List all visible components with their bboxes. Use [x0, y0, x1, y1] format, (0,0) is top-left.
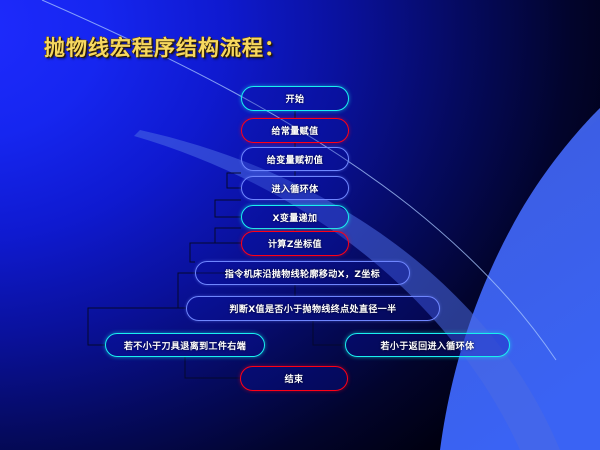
- page-title: 抛物线宏程序结构流程：: [44, 32, 286, 62]
- flow-node-label: 给常量赋值: [271, 124, 318, 137]
- flow-node-label: 指令机床沿抛物线轮廓移动X，Z坐标: [225, 267, 380, 280]
- flow-node-init-variables[interactable]: 给变量赋初值: [241, 147, 349, 171]
- flow-node-label: 计算Z坐标值: [268, 237, 322, 250]
- flow-node-move-machine[interactable]: 指令机床沿抛物线轮廓移动X，Z坐标: [195, 261, 410, 285]
- flow-node-label: 开始: [286, 92, 305, 105]
- flow-node-start[interactable]: 开始: [241, 86, 349, 111]
- flow-node-label: 给变量赋初值: [267, 153, 323, 166]
- flow-node-decision-x-value[interactable]: 判断X值是否小于抛物线终点处直径一半: [186, 296, 440, 321]
- flow-node-assign-constants[interactable]: 给常量赋值: [241, 118, 349, 143]
- flow-node-label: 若不小于刀具退离到工件右端: [124, 339, 246, 352]
- flow-node-retreat-tool[interactable]: 若不小于刀具退离到工件右端: [105, 333, 265, 357]
- flow-node-compute-z[interactable]: 计算Z坐标值: [241, 231, 349, 256]
- flow-node-label: 结束: [285, 372, 304, 385]
- flow-node-label: 若小于返回进入循环体: [380, 339, 474, 352]
- slide-canvas: 抛物线宏程序结构流程： 开始 给常量赋值 给变量赋初值 进入循环体 X变量递加 …: [0, 0, 600, 450]
- flow-node-enter-loop[interactable]: 进入循环体: [241, 176, 349, 200]
- flow-node-return-to-loop[interactable]: 若小于返回进入循环体: [345, 333, 510, 357]
- flow-node-label: 判断X值是否小于抛物线终点处直径一半: [229, 302, 396, 315]
- flow-node-label: 进入循环体: [271, 182, 318, 195]
- flow-node-increment-x[interactable]: X变量递加: [241, 205, 349, 229]
- flow-node-end[interactable]: 结束: [240, 366, 348, 391]
- flow-node-label: X变量递加: [273, 211, 318, 224]
